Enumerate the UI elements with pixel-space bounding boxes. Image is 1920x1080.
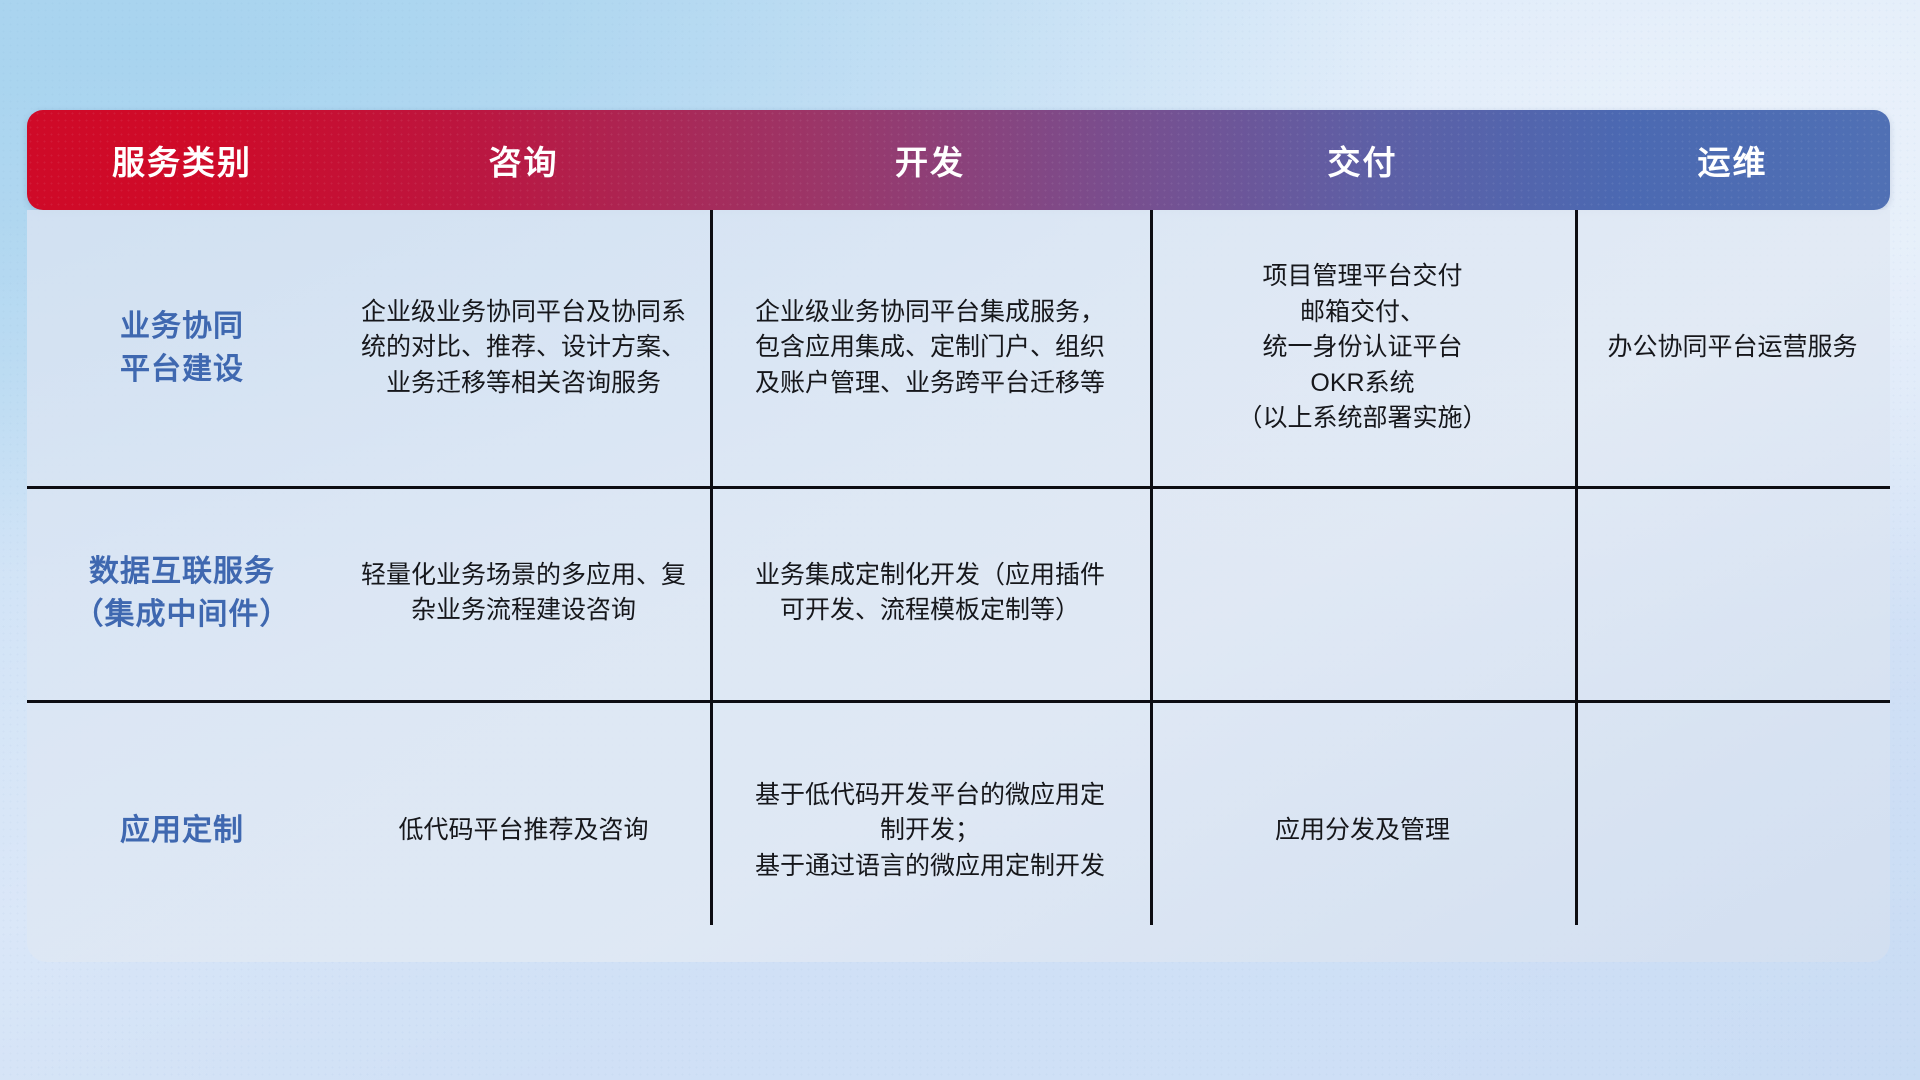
table-header-delivery: 交付 [1150, 136, 1575, 184]
cell-operations: 办公协同平台运营服务 [1575, 210, 1890, 486]
row-label-cell: 应用定制 [27, 700, 337, 962]
cell-consulting: 轻量化业务场景的多应用、复 杂业务流程建设咨询 [337, 486, 710, 700]
cell-text: 基于低代码开发平台的微应用定 制开发； 基于通过语言的微应用定制开发 [755, 778, 1105, 885]
table-row: 数据互联服务 （集成中间件） 轻量化业务场景的多应用、复 杂业务流程建设咨询 业… [27, 486, 1890, 700]
column-divider-2 [1150, 210, 1153, 925]
cell-delivery [1150, 486, 1575, 700]
row-label-text: 业务协同 平台建设 [120, 305, 244, 392]
cell-delivery: 项目管理平台交付 邮箱交付、 统一身份认证平台 OKR系统 （以上系统部署实施） [1150, 210, 1575, 486]
table-header-operations: 运维 [1575, 136, 1890, 184]
cell-text: 项目管理平台交付 邮箱交付、 统一身份认证平台 OKR系统 （以上系统部署实施） [1237, 259, 1487, 437]
cell-development: 基于低代码开发平台的微应用定 制开发； 基于通过语言的微应用定制开发 [710, 700, 1150, 962]
table-row: 应用定制 低代码平台推荐及咨询 基于低代码开发平台的微应用定 制开发； 基于通过… [27, 700, 1890, 962]
table-header-service-category: 服务类别 [27, 136, 337, 184]
cell-consulting: 企业级业务协同平台及协同系 统的对比、推荐、设计方案、 业务迁移等相关咨询服务 [337, 210, 710, 486]
cell-text: 轻量化业务场景的多应用、复 杂业务流程建设咨询 [361, 558, 686, 629]
service-matrix-table: 服务类别 咨询 开发 交付 运维 业务协同 平台建设 企业级业务协同平台及协同系… [27, 110, 1890, 962]
page-background: 服务类别 咨询 开发 交付 运维 业务协同 平台建设 企业级业务协同平台及协同系… [0, 0, 1920, 1080]
column-divider-3 [1575, 210, 1578, 925]
cell-operations [1575, 486, 1890, 700]
cell-text: 企业级业务协同平台集成服务， 包含应用集成、定制门户、组织 及账户管理、业务跨平… [755, 295, 1105, 402]
cell-text: 应用分发及管理 [1275, 813, 1450, 849]
column-divider-1 [710, 210, 713, 925]
cell-text: 企业级业务协同平台及协同系 统的对比、推荐、设计方案、 业务迁移等相关咨询服务 [361, 295, 686, 402]
cell-delivery: 应用分发及管理 [1150, 700, 1575, 962]
cell-development: 业务集成定制化开发（应用插件 可开发、流程模板定制等） [710, 486, 1150, 700]
row-label-text: 数据互联服务 （集成中间件） [74, 550, 291, 637]
cell-text: 办公协同平台运营服务 [1607, 330, 1857, 366]
table-body: 业务协同 平台建设 企业级业务协同平台及协同系 统的对比、推荐、设计方案、 业务… [27, 210, 1890, 962]
table-header-consulting: 咨询 [337, 136, 710, 184]
cell-text: 低代码平台推荐及咨询 [398, 813, 648, 849]
cell-consulting: 低代码平台推荐及咨询 [337, 700, 710, 962]
cell-development: 企业级业务协同平台集成服务， 包含应用集成、定制门户、组织 及账户管理、业务跨平… [710, 210, 1150, 486]
cell-text: 业务集成定制化开发（应用插件 可开发、流程模板定制等） [755, 558, 1105, 629]
table-header-development: 开发 [710, 136, 1150, 184]
table-header-row: 服务类别 咨询 开发 交付 运维 [27, 110, 1890, 210]
row-label-cell: 业务协同 平台建设 [27, 210, 337, 486]
table-row: 业务协同 平台建设 企业级业务协同平台及协同系 统的对比、推荐、设计方案、 业务… [27, 210, 1890, 486]
row-label-text: 应用定制 [120, 809, 244, 853]
cell-operations [1575, 700, 1890, 962]
row-label-cell: 数据互联服务 （集成中间件） [27, 486, 337, 700]
